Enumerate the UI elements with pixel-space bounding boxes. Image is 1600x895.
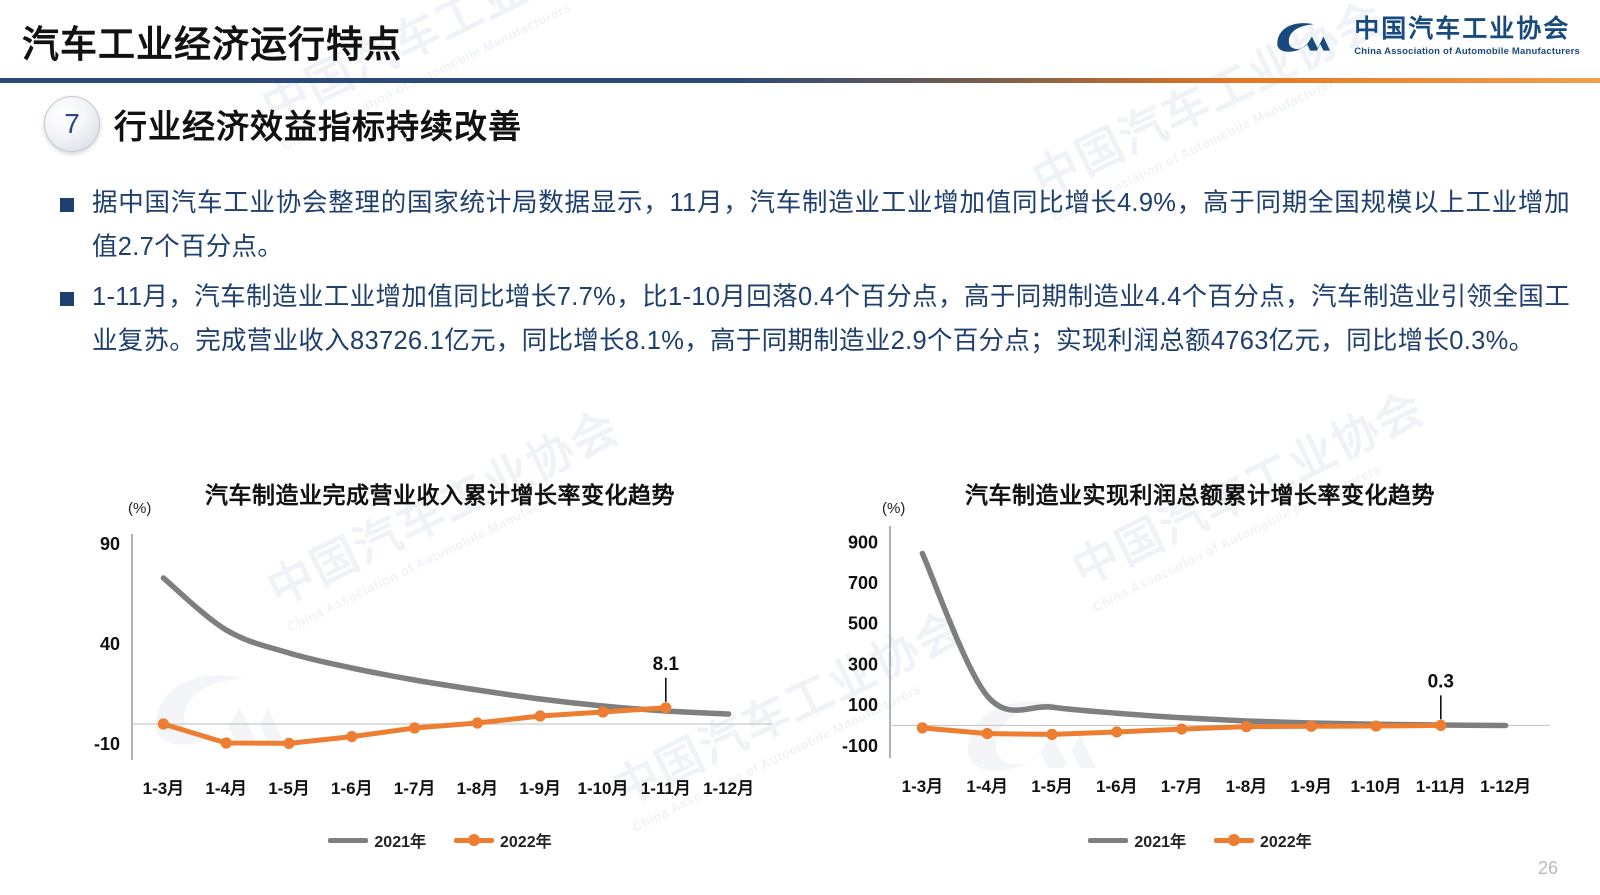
series-line-2021年 — [922, 553, 1505, 725]
legend-item-2021[interactable]: 2021年 — [328, 828, 426, 852]
x-axis-tick-label: 1-8月 — [1226, 777, 1268, 796]
x-axis-tick-label: 1-6月 — [331, 779, 373, 798]
series-marker — [597, 706, 608, 717]
y-axis-tick-label: -10 — [94, 734, 120, 754]
y-axis-tick-label: 900 — [848, 532, 878, 552]
x-axis-tick-label: 1-10月 — [577, 779, 628, 798]
y-axis-tick-label: 700 — [848, 573, 878, 593]
y-axis-tick-label: 40 — [100, 634, 120, 654]
x-axis-tick-label: 1-9月 — [1290, 777, 1332, 796]
legend-label: 2021年 — [1134, 828, 1186, 852]
x-axis-tick-label: 1-4月 — [205, 779, 247, 798]
x-axis-tick-label: 1-6月 — [1096, 777, 1138, 796]
legend-swatch-2022 — [1214, 834, 1254, 846]
series-marker — [1370, 720, 1381, 731]
x-axis-tick-label: 1-4月 — [966, 777, 1008, 796]
series-marker — [1176, 724, 1187, 735]
chart-legend: 2021年 2022年 — [810, 828, 1590, 852]
section-heading: 7 行业经济效益指标持续改善 — [44, 96, 522, 152]
y-axis-tick-label: -100 — [842, 736, 878, 756]
series-marker — [917, 722, 928, 733]
y-axis-tick-label: 100 — [848, 695, 878, 715]
legend-label: 2021年 — [374, 828, 426, 852]
header-divider — [0, 78, 1600, 83]
bullet-square-icon — [60, 292, 74, 306]
slide: 中国汽车工业协会 China Association of Automobile… — [0, 0, 1600, 895]
series-marker — [283, 738, 294, 749]
y-axis-tick-label: 300 — [848, 654, 878, 674]
x-axis-tick-label: 1-7月 — [394, 779, 436, 798]
series-marker — [1241, 721, 1252, 732]
section-title: 行业经济效益指标持续改善 — [114, 100, 522, 148]
legend-swatch-2021 — [1088, 834, 1128, 846]
series-line-2021年 — [163, 578, 728, 714]
x-axis-tick-label: 1-12月 — [703, 779, 754, 798]
series-marker — [1046, 729, 1057, 740]
series-marker — [982, 728, 993, 739]
x-axis-tick-label: 1-10月 — [1350, 777, 1401, 796]
x-axis-tick-label: 1-3月 — [902, 777, 944, 796]
annotation-label: 0.3 — [1428, 671, 1454, 692]
series-marker — [1306, 721, 1317, 732]
series-marker — [1435, 720, 1446, 731]
legend-item-2022[interactable]: 2022年 — [454, 828, 552, 852]
series-marker — [158, 718, 169, 729]
chart-plot-revenue: 9040-101-3月1-4月1-5月1-6月1-7月1-8月1-9月1-10月… — [70, 466, 810, 866]
x-axis-tick-label: 1-11月 — [1416, 777, 1466, 796]
page-title: 汽车工业经济运行特点 — [22, 14, 402, 68]
series-marker — [346, 731, 357, 742]
x-axis-tick-label: 1-5月 — [268, 779, 310, 798]
series-marker — [535, 710, 546, 721]
x-axis-tick-label: 1-8月 — [457, 779, 499, 798]
series-marker — [221, 737, 232, 748]
chart-plot-profit: 900700500300100-1001-3月1-4月1-5月1-6月1-7月1… — [810, 466, 1590, 866]
legend-swatch-2022 — [454, 834, 494, 846]
org-logo: 中国汽车工业协会 China Association of Automobile… — [1274, 16, 1580, 58]
y-axis-tick-label: 500 — [848, 614, 878, 634]
annotation-label: 8.1 — [653, 654, 680, 675]
y-axis-tick-label: 90 — [100, 534, 120, 554]
series-marker — [1111, 726, 1122, 737]
cma-logo-icon — [1274, 16, 1344, 58]
section-number-badge: 7 — [44, 96, 100, 152]
legend-label: 2022年 — [500, 828, 552, 852]
series-marker — [472, 717, 483, 728]
page-number: 26 — [1538, 858, 1558, 879]
series-marker — [409, 722, 420, 733]
legend-swatch-2021 — [328, 834, 368, 846]
legend-item-2022[interactable]: 2022年 — [1214, 828, 1312, 852]
chart-revenue: 汽车制造业完成营业收入累计增长率变化趋势 (%) 9040-101-3月1-4月… — [70, 466, 810, 866]
bullet-item: 据中国汽车工业协会整理的国家统计局数据显示，11月，汽车制造业工业增加值同比增长… — [60, 182, 1570, 270]
x-axis-tick-label: 1-7月 — [1161, 777, 1203, 796]
bullet-text: 1-11月，汽车制造业工业增加值同比增长7.7%，比1-10月回落0.4个百分点… — [92, 276, 1570, 364]
bullet-list: 据中国汽车工业协会整理的国家统计局数据显示，11月，汽车制造业工业增加值同比增长… — [60, 182, 1570, 369]
legend-label: 2022年 — [1260, 828, 1312, 852]
x-axis-tick-label: 1-3月 — [143, 779, 185, 798]
chart-legend: 2021年 2022年 — [70, 828, 810, 852]
bullet-text: 据中国汽车工业协会整理的国家统计局数据显示，11月，汽车制造业工业增加值同比增长… — [92, 182, 1570, 270]
chart-profit: 汽车制造业实现利润总额累计增长率变化趋势 (%) 900700500300100… — [810, 466, 1590, 866]
logo-name-cn: 中国汽车工业协会 — [1354, 17, 1580, 42]
x-axis-tick-label: 1-11月 — [641, 779, 691, 798]
bullet-square-icon — [60, 198, 74, 212]
x-axis-tick-label: 1-5月 — [1031, 777, 1073, 796]
bullet-item: 1-11月，汽车制造业工业增加值同比增长7.7%，比1-10月回落0.4个百分点… — [60, 276, 1570, 364]
x-axis-tick-label: 1-9月 — [519, 779, 561, 798]
charts-area: 汽车制造业完成营业收入累计增长率变化趋势 (%) 9040-101-3月1-4月… — [0, 466, 1600, 866]
logo-name-en: China Association of Automobile Manufact… — [1354, 47, 1580, 57]
legend-item-2021[interactable]: 2021年 — [1088, 828, 1186, 852]
x-axis-tick-label: 1-12月 — [1480, 777, 1531, 796]
series-marker — [660, 702, 671, 713]
